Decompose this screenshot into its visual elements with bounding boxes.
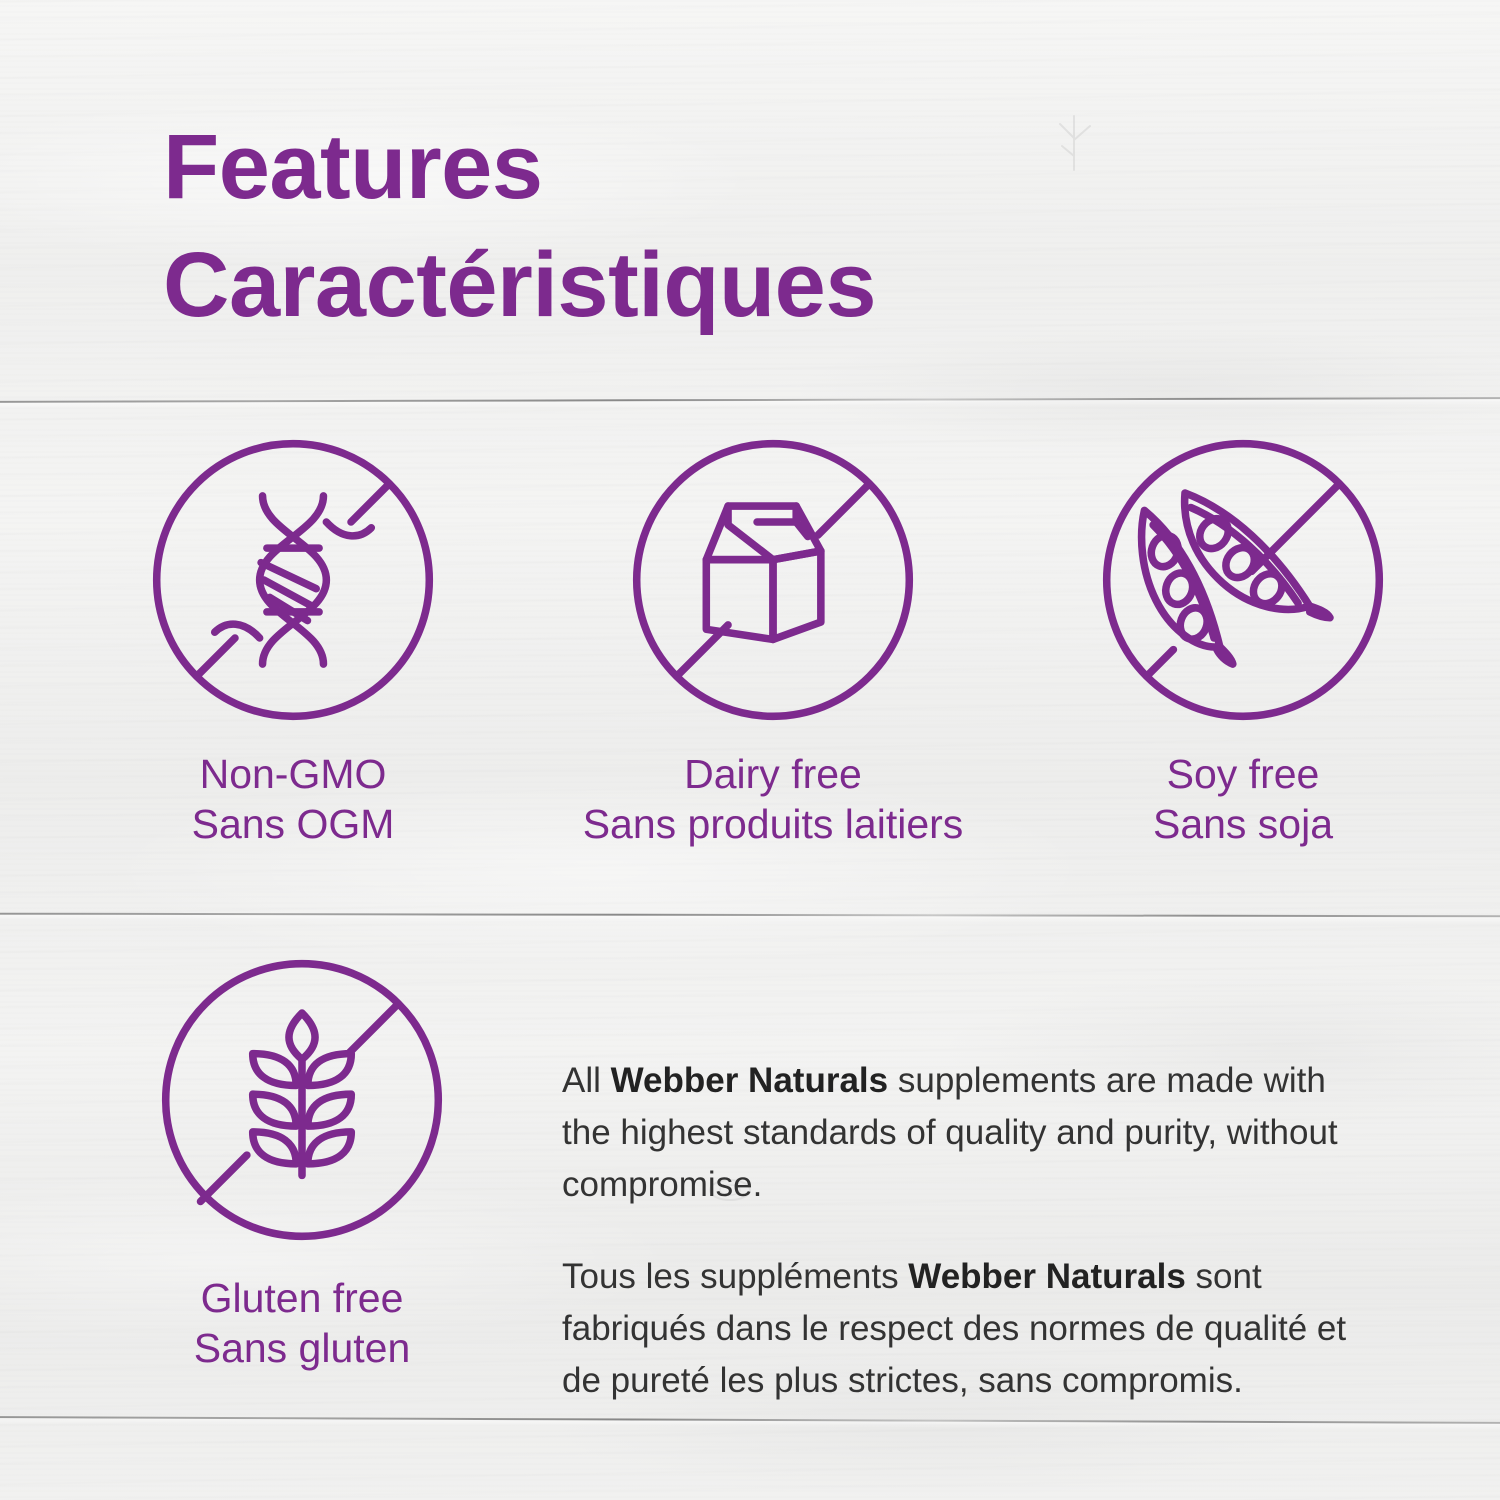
feature-dairy-free: Dairy free Sans produits laitiers — [538, 435, 1008, 849]
brand-statement-en-before: All — [562, 1061, 611, 1100]
feature-dairy-free-label-fr: Sans produits laitiers — [583, 799, 964, 849]
feature-non-gmo-label-en: Non-GMO — [192, 749, 395, 799]
pea-pod-no-icon — [1098, 435, 1388, 725]
feature-soy-free: Soy free Sans soja — [1008, 435, 1478, 849]
brand-name-fr: Webber Naturals — [908, 1257, 1186, 1296]
page-title: Features Caractéristiques — [163, 108, 876, 344]
brand-name-en: Webber Naturals — [611, 1061, 889, 1100]
feature-soy-free-label-fr: Sans soja — [1153, 799, 1333, 849]
feature-non-gmo: Non-GMO Sans OGM — [58, 435, 528, 849]
page-title-en: Features — [163, 108, 876, 226]
feature-gluten-free: Gluten free Sans gluten — [152, 955, 452, 1373]
milk-carton-no-icon — [628, 435, 918, 725]
features-panel: Features Caractéristiques — [0, 0, 1500, 1500]
feature-soy-free-label-en: Soy free — [1153, 749, 1333, 799]
dna-no-icon — [148, 435, 438, 725]
feature-non-gmo-label-fr: Sans OGM — [192, 799, 395, 849]
wheat-no-icon — [157, 955, 447, 1245]
brand-statement-fr-before: Tous les suppléments — [562, 1257, 908, 1296]
feature-badge-row: Non-GMO Sans OGM — [0, 435, 1500, 849]
brand-statement-en: All Webber Naturals supplements are made… — [562, 1055, 1362, 1211]
feature-gluten-free-label-en: Gluten free — [194, 1273, 411, 1323]
brand-statement-fr: Tous les suppléments Webber Naturals son… — [562, 1251, 1362, 1407]
feature-dairy-free-label: Dairy free Sans produits laitiers — [583, 749, 964, 849]
feature-non-gmo-label: Non-GMO Sans OGM — [192, 749, 395, 849]
feature-gluten-free-label: Gluten free Sans gluten — [194, 1273, 411, 1373]
page-title-fr: Caractéristiques — [163, 226, 876, 344]
feature-soy-free-label: Soy free Sans soja — [1153, 749, 1333, 849]
brand-statement-block: All Webber Naturals supplements are made… — [562, 1020, 1362, 1442]
feature-gluten-free-label-fr: Sans gluten — [194, 1323, 411, 1373]
feature-dairy-free-label-en: Dairy free — [583, 749, 964, 799]
